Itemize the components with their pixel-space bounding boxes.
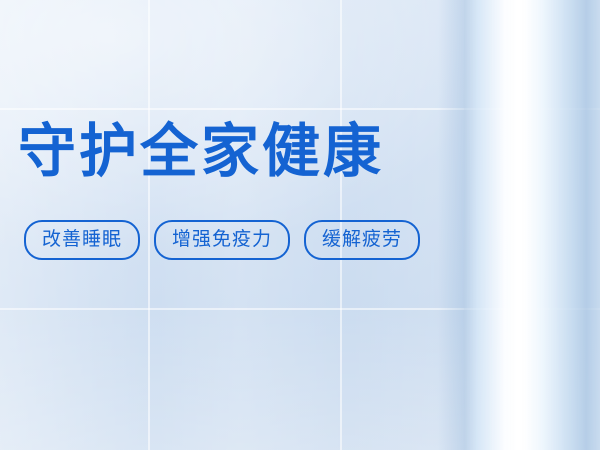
column-shadow-edge	[438, 0, 464, 450]
promo-banner: 守护全家健康 改善睡眠 增强免疫力 缓解疲劳	[0, 0, 600, 450]
feature-tag-fatigue: 缓解疲劳	[304, 220, 420, 260]
column-highlight	[510, 0, 526, 450]
feature-tag-list: 改善睡眠 增强免疫力 缓解疲劳	[24, 220, 420, 260]
glossy-column	[464, 0, 600, 450]
feature-tag-sleep: 改善睡眠	[24, 220, 140, 260]
headline: 守护全家健康	[18, 122, 384, 180]
feature-tag-immunity: 增强免疫力	[154, 220, 290, 260]
